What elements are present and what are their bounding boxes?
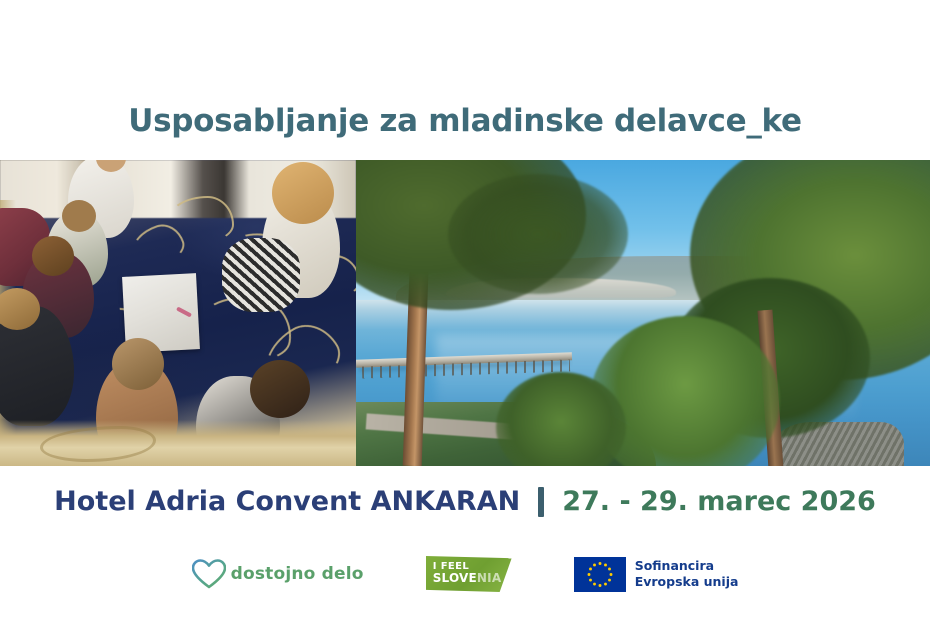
workshop-photo: [0, 160, 356, 466]
venue-name: Hotel Adria Convent ANKARAN: [54, 486, 520, 517]
eu-funding-text: Sofinancira Evropska unija: [635, 558, 739, 590]
eu-funding-line1: Sofinancira: [635, 558, 739, 574]
carpet-gold-border: [0, 420, 356, 466]
title-area: Usposabljanje za mladinske delavce_ke: [0, 104, 930, 138]
dostojno-delo-wordmark: dostojno delo: [231, 564, 364, 584]
slovenia-line: SLOVENIA: [433, 572, 502, 585]
event-dates: 27. - 29. marec 2026: [562, 486, 876, 517]
i-feel-slovenia-logo: I FEEL SLOVENIA: [426, 556, 512, 592]
slovenia-wordmark: I FEEL SLOVENIA: [433, 561, 502, 586]
pine-canopy: [448, 174, 628, 294]
seaside-scene: [356, 160, 930, 466]
photo-band: [0, 160, 930, 466]
event-details-line: Hotel Adria Convent ANKARAN 27. - 29. ma…: [0, 486, 930, 517]
seaside-photo: [356, 160, 930, 466]
dostojno-delo-logo: dostojno delo: [192, 559, 364, 589]
eu-funding-logo: Sofinancira Evropska unija: [574, 557, 739, 592]
logo-row: dostojno delo I FEEL SLOVENIA: [0, 550, 930, 598]
slovenia-love-highlight: LOVE: [442, 571, 477, 585]
poster-canvas: Usposabljanje za mladinske delavce_ke: [0, 0, 930, 620]
slovenia-suffix: NIA: [477, 571, 501, 585]
page-title: Usposabljanje za mladinske delavce_ke: [128, 104, 801, 138]
heart-handshake-icon: [192, 559, 226, 589]
slovenia-prefix: S: [433, 571, 442, 585]
eu-flag-icon: [574, 557, 626, 592]
eu-funding-line2: Evropska unija: [635, 574, 739, 590]
separator-bar: [538, 487, 544, 517]
